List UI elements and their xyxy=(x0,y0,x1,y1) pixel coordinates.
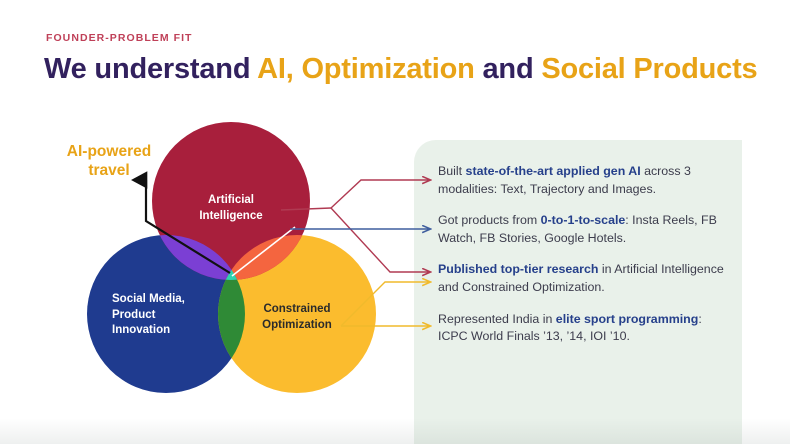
bullet-emphasis: state-of-the-art applied gen AI xyxy=(466,164,641,178)
connector-ai-trunk xyxy=(281,208,331,210)
venn-label-ai: Artificial Intelligence xyxy=(178,193,284,224)
list-item: Got products from 0-to-1-to-scale: Insta… xyxy=(438,212,726,247)
bullet-emphasis: Published top-tier research xyxy=(438,262,598,276)
bullet-lead: Represented India in xyxy=(438,312,556,326)
page-title-part3: and xyxy=(475,53,542,85)
venn-label-optimization: Constrained Optimization xyxy=(245,302,349,333)
center-leader-line xyxy=(232,227,295,276)
eyebrow-label: FOUNDER-PROBLEM FIT xyxy=(46,32,193,44)
page-title: We understand AI, Optimization and Socia… xyxy=(44,51,757,87)
venn-label-social: Social Media, Product Innovation xyxy=(112,292,228,339)
highlights-list: Built state-of-the-art applied gen AI ac… xyxy=(438,163,726,346)
list-item: Represented India in elite sport program… xyxy=(438,311,726,346)
bullet-emphasis: 0-to-1-to-scale xyxy=(541,213,626,227)
slide-canvas: FOUNDER-PROBLEM FIT We understand AI, Op… xyxy=(0,0,790,444)
bullet-lead: Got products from xyxy=(438,213,541,227)
list-item: Published top-tier research in Artificia… xyxy=(438,261,726,296)
page-title-part1: We understand xyxy=(44,53,257,85)
venn-center-callout: AI-powered travel xyxy=(44,142,174,181)
bullet-emphasis: elite sport programming xyxy=(556,312,699,326)
page-title-part4: Social Products xyxy=(541,53,757,85)
bullet-lead: Built xyxy=(438,164,466,178)
page-title-part2: AI, Optimization xyxy=(257,53,475,85)
list-item: Built state-of-the-art applied gen AI ac… xyxy=(438,163,726,198)
